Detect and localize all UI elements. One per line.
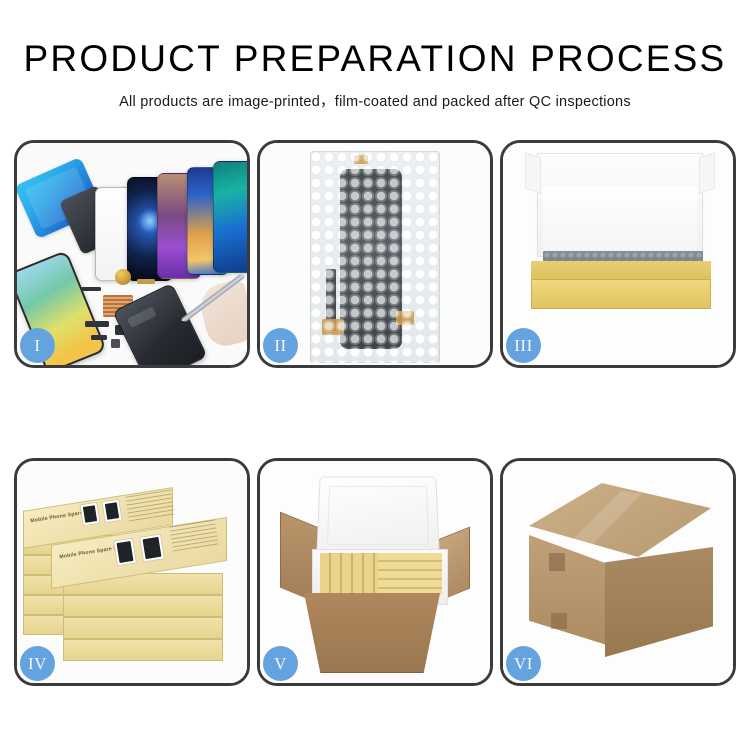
phone-screen-fan	[95, 161, 235, 281]
carton-styrofoam-scene	[260, 461, 490, 683]
open-box-scene	[503, 143, 733, 365]
box-stack: Mobile Phone Spare Parts Mobile Phone Sp…	[23, 475, 241, 671]
step-badge-5: V	[263, 646, 298, 681]
step-badge-2: II	[263, 328, 298, 363]
step-2-image	[260, 143, 490, 365]
process-step-panel-1[interactable]: I	[14, 140, 250, 368]
step-badge-6: VI	[506, 646, 541, 681]
yellow-box-front	[531, 279, 711, 309]
box-flap-right	[699, 152, 715, 193]
wrapped-screen-assembly	[340, 169, 402, 349]
gold-connector-bottom-right	[396, 311, 414, 325]
process-step-panel-4[interactable]: Mobile Phone Spare Parts Mobile Phone Sp…	[14, 458, 250, 686]
box-flap-left	[525, 152, 541, 193]
page-title: PRODUCT PREPARATION PROCESS	[0, 40, 750, 79]
process-step-grid: I II	[14, 140, 736, 692]
step-badge-3: III	[506, 328, 541, 363]
sealed-carton-scene	[503, 461, 733, 683]
carton-seam-upper	[549, 553, 565, 571]
step-3-image	[503, 143, 733, 365]
bubble-wrap-bag	[310, 151, 440, 363]
white-foam-sheet	[543, 187, 697, 255]
infographic-page: PRODUCT PREPARATION PROCESS All products…	[0, 0, 750, 750]
gold-connector-bottom-left	[322, 319, 344, 335]
process-step-panel-5[interactable]: V	[257, 458, 493, 686]
carton-right-face	[605, 547, 713, 657]
step-badge-1: I	[20, 328, 55, 363]
gold-connector-top	[354, 155, 368, 164]
phone-parts-scene	[17, 143, 247, 365]
process-step-panel-6[interactable]: VI	[500, 458, 736, 686]
carton-body	[304, 593, 440, 673]
gold-speaker-part	[115, 269, 131, 285]
yellow-box-side	[531, 261, 711, 281]
header: PRODUCT PREPARATION PROCESS All products…	[0, 0, 750, 111]
yellow-boxes-row-right	[378, 553, 442, 595]
stacked-boxes-scene: Mobile Phone Spare Parts Mobile Phone Sp…	[17, 461, 247, 683]
step-badge-4: IV	[20, 646, 55, 681]
carton-seam-lower	[551, 613, 567, 629]
step-4-image: Mobile Phone Spare Parts Mobile Phone Sp…	[17, 461, 247, 683]
page-subtitle: All products are image-printed，film-coat…	[0, 90, 750, 111]
styrofoam-lid	[316, 476, 439, 555]
step-6-image	[503, 461, 733, 683]
step-1-image	[17, 143, 247, 365]
phone-screen-teal	[213, 161, 247, 273]
bubble-wrap-scene	[260, 143, 490, 365]
carton-left-face	[529, 535, 607, 645]
process-step-panel-3[interactable]: III	[500, 140, 736, 368]
tweezers-tool	[182, 267, 245, 328]
step-5-image	[260, 461, 490, 683]
process-step-panel-2[interactable]: II	[257, 140, 493, 368]
